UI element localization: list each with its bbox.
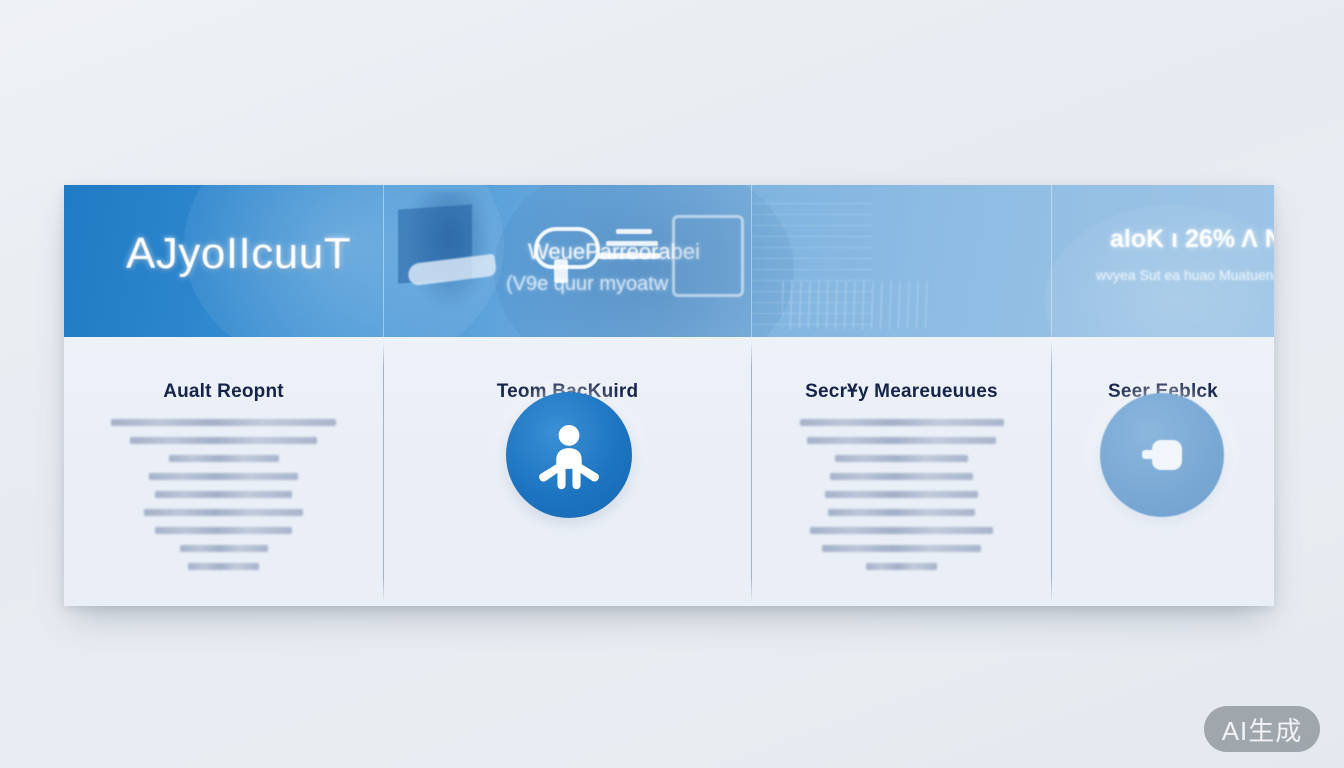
card-divider [751,341,752,603]
text-line [866,563,937,570]
card-user-feedback[interactable]: Seer Eeblck [1052,337,1274,606]
card-team-background[interactable]: Teom BacKuird [384,337,751,606]
text-line [822,545,980,552]
card-divider [1051,341,1052,603]
text-line [130,437,317,444]
text-line [800,419,1004,426]
header-cell-stat: aloK ι 26% Λ N% wvyea Sut ea huao Muatue… [1052,185,1274,337]
banner-header-strip: AJyoIIcuuT WeueParreorabei (V9e quur myo… [64,185,1274,337]
presentation-banner: AJyoIIcuuT WeueParreorabei (V9e quur myo… [64,185,1274,606]
text-line [180,545,268,552]
header-cell-headline: WeueParreorabei (V9e quur myoatw [384,185,750,337]
header-cell-brand: AJyoIIcuuT [64,185,382,337]
person-silhouette-icon [406,191,492,311]
header-divider [383,185,384,337]
text-line [830,473,973,480]
text-line [188,563,260,570]
text-line [149,473,298,480]
card-body-text [752,419,1051,570]
card-row: Aualt Reopnt Teom BacKuird SecrҰy Meareu… [64,337,1274,606]
card-title: Aualt Reopnt [64,381,383,403]
card-body-text [64,419,383,570]
chart-icon [782,281,932,329]
header-cell-imagery [752,185,1050,337]
header-stat-value: aloK ι 26% Λ N% [1110,225,1274,254]
grid-icon [752,195,872,325]
brand-title: AJyoIIcuuT [126,229,351,279]
text-line [111,419,337,426]
text-line [825,491,978,498]
text-line [155,527,293,534]
header-divider [751,185,752,337]
header-divider [1051,185,1052,337]
lock-icon [1100,393,1224,517]
hand-icon [407,254,497,287]
text-line [810,527,994,534]
text-line [807,437,996,444]
document-icon [398,204,472,283]
header-subheadline: (V9e quur myoatw [506,273,668,296]
text-line [828,509,976,516]
text-line [155,491,293,498]
header-headline: WeueParreorabei [528,239,700,265]
card-security-measures[interactable]: SecrҰy Meareueuues [752,337,1051,606]
card-divider [383,341,384,603]
card-audit-report[interactable]: Aualt Reopnt [64,337,383,606]
user-icon [506,392,632,518]
text-line [144,509,304,516]
ai-generated-watermark: AI生成 [1204,706,1320,752]
text-line [835,455,968,462]
watermark-label: AI生成 [1222,711,1303,748]
list-line-icon [616,229,652,234]
header-stat-caption: wvyea Sut ea huao Muatuene [1096,267,1274,283]
card-title: SecrҰy Meareueuues [752,381,1051,403]
text-line [169,455,279,462]
